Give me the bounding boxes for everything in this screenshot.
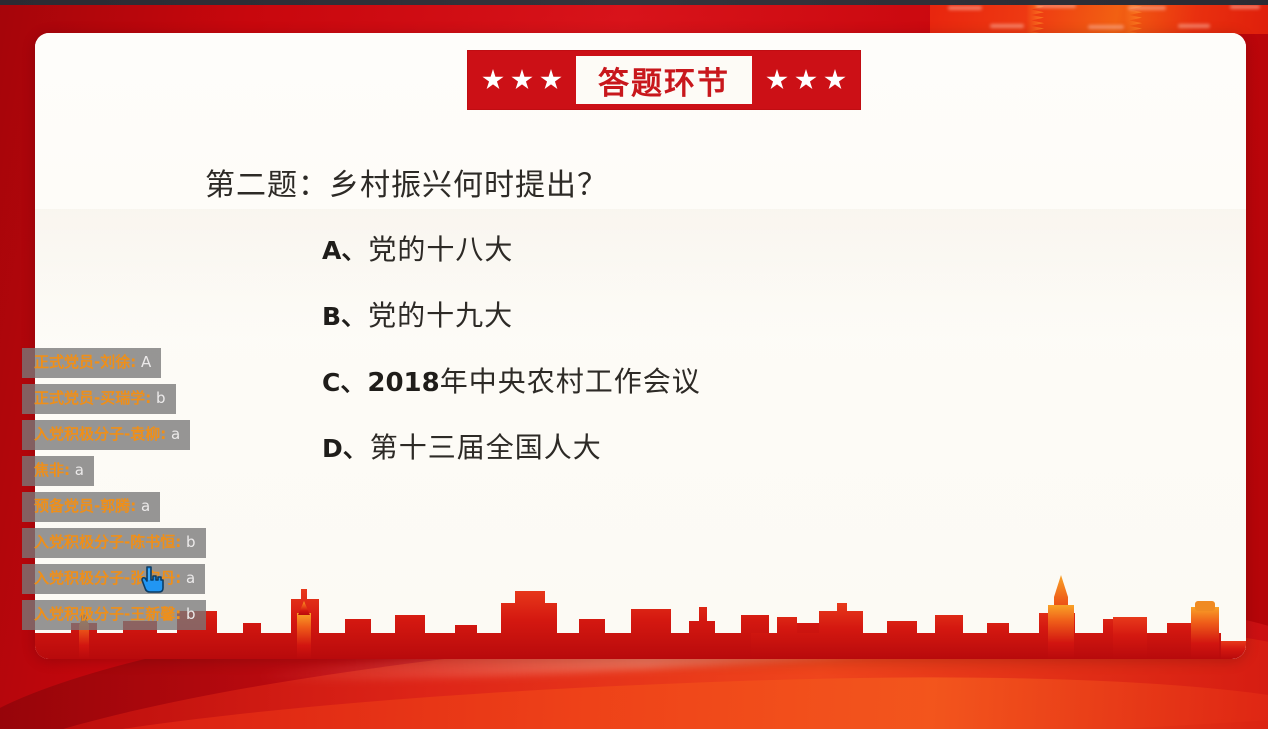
chat-username: 预备党员-郭腾: — [34, 497, 136, 515]
chat-username: 正式党员-刘徐: — [34, 353, 136, 371]
chat-answer: a — [141, 497, 150, 515]
option-b-text: 党的十九大 — [368, 294, 513, 334]
stars-right-group — [752, 51, 860, 109]
chat-username: 入党积极分子-袁柳: — [34, 425, 166, 443]
option-c-year: 2018 — [367, 368, 439, 398]
presentation-slide: 答题环节 第二题：乡村振兴何时提出？ A、 党的十八大 B、 党的十九大 C、 … — [0, 0, 1268, 729]
section-title-box: 答题环节 — [576, 56, 752, 104]
chat-message: 入党积极分子-袁柳: a — [22, 420, 190, 450]
chat-message: 正式党员-刘徐: A — [22, 348, 161, 378]
chat-answer: A — [141, 353, 151, 371]
star-icon — [482, 69, 504, 91]
option-d-key: D、 — [322, 429, 368, 465]
chat-message: 焦非: a — [22, 456, 94, 486]
option-c[interactable]: C、 2018 年中央农村工作会议 — [322, 360, 701, 426]
chat-answer: b — [186, 533, 196, 551]
chat-message: 入党积极分子-张宇丹: a — [22, 564, 205, 594]
star-icon — [795, 69, 817, 91]
chat-answer: b — [186, 605, 196, 623]
pointing-hand-cursor-icon — [138, 565, 164, 595]
city-skyline-illustration — [35, 559, 1246, 659]
option-c-key: C、 — [322, 363, 365, 399]
chat-answer: b — [156, 389, 166, 407]
chat-username: 入党积极分子-陈书恒: — [34, 533, 181, 551]
top-dark-band — [0, 0, 1268, 5]
option-b[interactable]: B、 党的十九大 — [322, 294, 701, 360]
question-text: 第二题：乡村振兴何时提出？ — [205, 160, 608, 204]
option-b-key: B、 — [322, 297, 366, 333]
option-d[interactable]: D、 第十三届全国人大 — [322, 426, 701, 492]
stars-left-group — [468, 51, 576, 109]
chat-username: 正式党员-买瑞学: — [34, 389, 151, 407]
section-title-text: 答题环节 — [598, 58, 730, 103]
option-a-key: A、 — [322, 231, 366, 267]
star-icon — [824, 69, 846, 91]
answer-options-list: A、 党的十八大 B、 党的十九大 C、 2018 年中央农村工作会议 D、 第… — [322, 228, 701, 492]
chat-username: 入党积极分子-王新馨: — [34, 605, 181, 623]
chat-message: 入党积极分子-王新馨: b — [22, 600, 206, 630]
flag-decoration — [930, 0, 1268, 34]
star-icon — [540, 69, 562, 91]
option-a[interactable]: A、 党的十八大 — [322, 228, 701, 294]
option-d-text: 第十三届全国人大 — [370, 426, 602, 466]
chat-answer: a — [171, 425, 180, 443]
option-c-text: 年中央农村工作会议 — [440, 360, 701, 400]
chat-username: 焦非: — [34, 461, 70, 479]
star-icon — [511, 69, 533, 91]
chat-message: 入党积极分子-陈书恒: b — [22, 528, 206, 558]
chat-message: 正式党员-买瑞学: b — [22, 384, 176, 414]
chat-answer: a — [75, 461, 84, 479]
section-title-banner: 答题环节 — [467, 50, 861, 110]
chat-message: 预备党员-郭腾: a — [22, 492, 160, 522]
option-a-text: 党的十八大 — [368, 228, 513, 268]
chat-answer: a — [186, 569, 195, 587]
star-icon — [766, 69, 788, 91]
chat-overlay: 正式党员-刘徐: A 正式党员-买瑞学: b 入党积极分子-袁柳: a 焦非: … — [22, 348, 206, 630]
